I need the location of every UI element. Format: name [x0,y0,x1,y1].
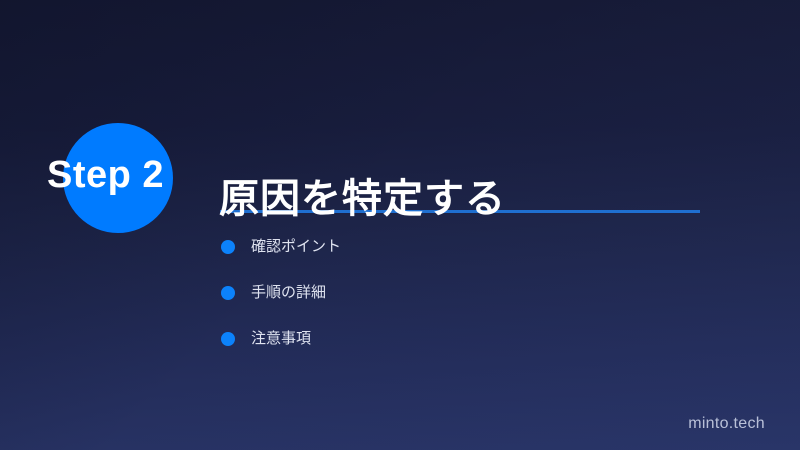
list-item-label: 手順の詳細 [251,285,326,301]
watermark-label: minto.tech [688,415,765,433]
list-item: 確認ポイント [221,239,341,255]
bullet-dot-icon [221,240,235,254]
bullet-dot-icon [221,286,235,300]
step-badge-label: Step 2 [47,155,164,195]
bullet-list: 確認ポイント 手順の詳細 注意事項 [221,239,341,347]
list-item-label: 確認ポイント [251,239,341,255]
list-item-label: 注意事項 [251,331,311,347]
bullet-dot-icon [221,332,235,346]
slide-title: 原因を特定する [219,175,506,223]
slide-canvas: Step 2 原因を特定する 確認ポイント 手順の詳細 注意事項 minto.t… [0,0,800,450]
list-item: 手順の詳細 [221,285,341,301]
list-item: 注意事項 [221,331,341,347]
